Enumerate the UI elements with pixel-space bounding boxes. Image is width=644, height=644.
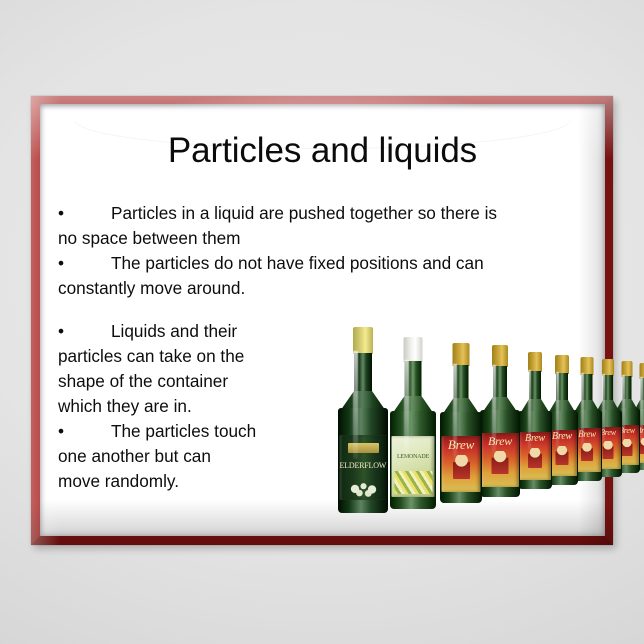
bottle-label-text: Brew xyxy=(519,433,551,444)
bottle-highlight xyxy=(492,365,496,453)
bottle-highlight xyxy=(453,364,457,457)
bottle-highlight xyxy=(556,372,559,447)
bottle-cap xyxy=(492,345,508,367)
bottle-cap xyxy=(353,327,373,354)
bottles-photograph: ELDERFLOWERLEMONADEBrewBrewBrewBrewBrewB… xyxy=(328,319,600,515)
bullet-text-line: constantly move around. xyxy=(58,278,245,298)
bottle-label: LEMONADE xyxy=(392,436,435,497)
bullet-item-2: •The particles do not have fixed positio… xyxy=(58,251,591,301)
bullet-list-top: •Particles in a liquid are pushed togeth… xyxy=(58,201,591,301)
bottle-highlight xyxy=(581,373,584,445)
bullet-text-line: Liquids and their xyxy=(111,321,237,341)
bottle-label-figure xyxy=(453,455,470,479)
bullet-item-3: •Liquids and their particles can take on… xyxy=(58,319,321,419)
bottle-highlight xyxy=(353,351,358,459)
bottle-label: Brew xyxy=(481,433,519,487)
poster-frame: Particles and liquids •Particles in a li… xyxy=(31,96,613,545)
bottle-label-figure xyxy=(528,448,542,468)
bottle-label-floral xyxy=(346,479,380,497)
bottle-cap xyxy=(404,337,423,362)
bullet-item-1: •Particles in a liquid are pushed togeth… xyxy=(58,201,591,251)
bottle-highlight xyxy=(404,360,409,460)
bullet-text-line: which they are in. xyxy=(58,396,192,416)
bullet-text-line: Particles in a liquid are pushed togethe… xyxy=(111,203,497,223)
bottle-label-text: LEMONADE xyxy=(392,454,435,460)
bullet-text-line: one another but can xyxy=(58,446,211,466)
bottle-label-figure xyxy=(622,439,633,456)
bottle-highlight xyxy=(528,370,531,449)
poster-content: Particles and liquids •Particles in a li… xyxy=(40,104,605,536)
bottle-cap xyxy=(528,352,542,372)
bottle-label-text: Brew xyxy=(481,434,519,449)
bottle-5: Brew xyxy=(518,352,552,489)
bullet-text-line: shape of the container xyxy=(58,371,228,391)
bottle-highlight xyxy=(640,377,643,439)
bottle-3: Brew xyxy=(440,343,482,503)
bullet-marker-icon: • xyxy=(58,201,66,226)
bottle-label-figure xyxy=(581,443,593,461)
bullet-text-line: particles can take on the xyxy=(58,346,244,366)
bottle-label-text: Brew xyxy=(442,437,481,453)
bullet-text-line: no space between them xyxy=(58,228,241,248)
bullet-item-4: •The particles touch one another but can… xyxy=(58,419,321,494)
bullet-marker-icon: • xyxy=(58,251,66,276)
bottle-2: LEMONADE xyxy=(390,337,436,509)
bottle-label-figure xyxy=(492,451,509,474)
bottle-highlight xyxy=(622,375,625,440)
page-title: Particles and liquids xyxy=(40,131,605,171)
bottle-4: Brew xyxy=(480,345,520,497)
bottle-label-leaves xyxy=(394,471,432,494)
bottle-highlight xyxy=(602,374,605,442)
bullet-text-line: The particles touch xyxy=(111,421,256,441)
bottle-label: Brew xyxy=(519,432,551,480)
bottle-label-figure xyxy=(556,446,569,465)
bottle-1: ELDERFLOWER xyxy=(338,327,388,513)
bullet-text-line: move randomly. xyxy=(58,471,179,491)
bottle-label-figure xyxy=(603,441,614,459)
bottle-label: ELDERFLOWER xyxy=(340,435,387,500)
bullet-marker-icon: • xyxy=(58,319,66,344)
bullet-marker-icon: • xyxy=(58,419,66,444)
bullet-list-bottom: •Liquids and their particles can take on… xyxy=(58,319,321,494)
bottle-label-text: ELDERFLOWER xyxy=(340,461,387,470)
bullet-text-line: The particles do not have fixed position… xyxy=(111,253,484,273)
bottle-label: Brew xyxy=(442,436,481,492)
bottle-cap xyxy=(453,343,470,366)
